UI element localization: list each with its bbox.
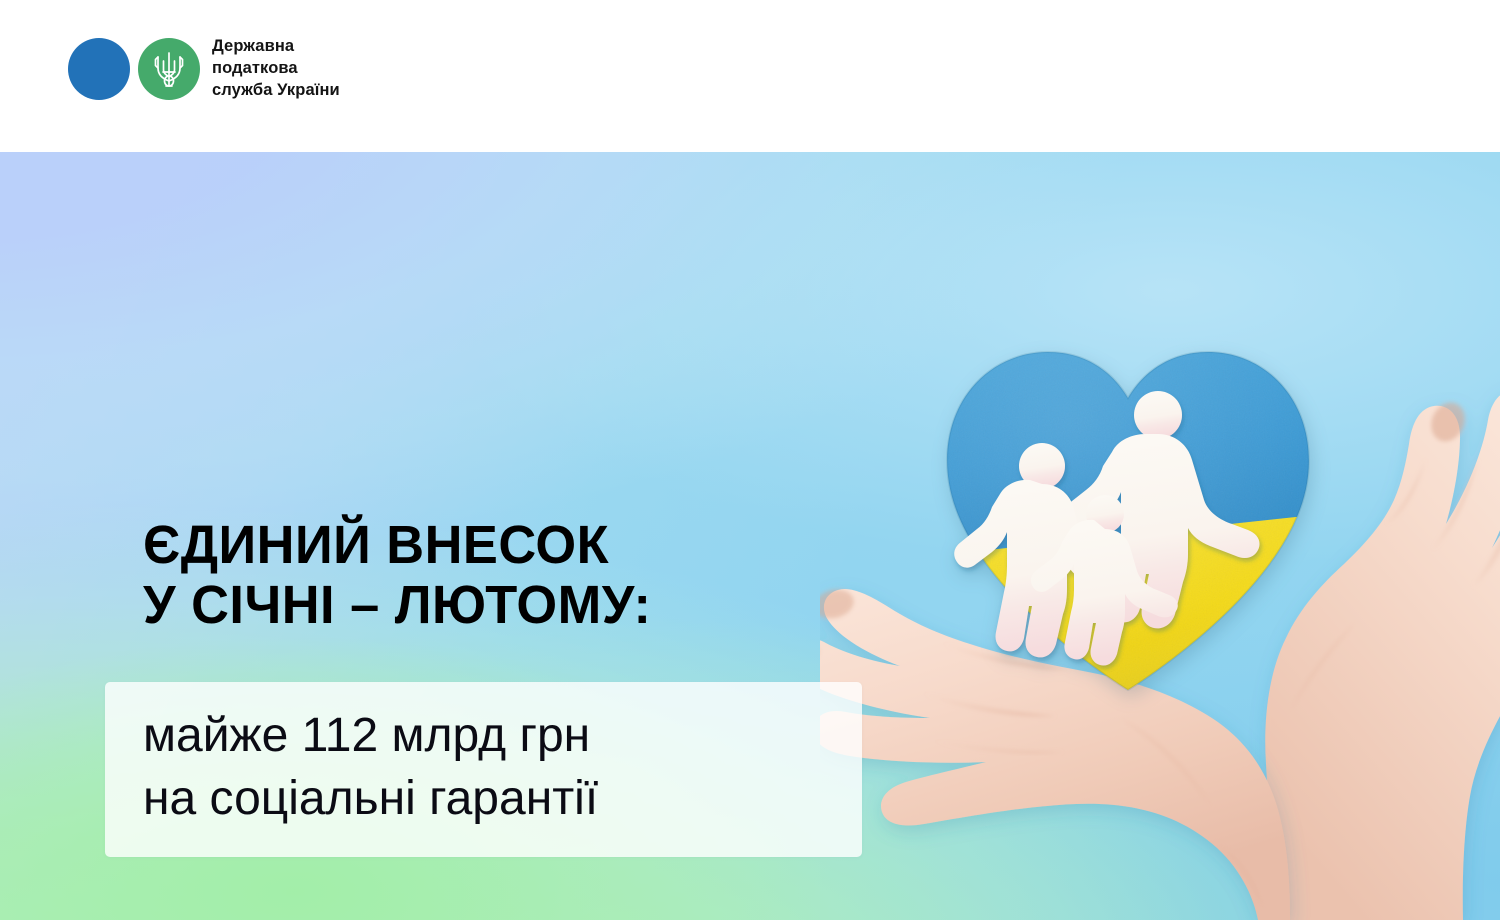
logo-text-line-2: податкова [212, 59, 298, 77]
poster-artwork-stage: ЄДИНИЙ ВНЕСОК У СІЧНІ – ЛЮТОМУ: майже 11… [0, 152, 1500, 920]
logo-text-line-1: Державна [212, 37, 294, 55]
organization-name: Державна податкова служба України [212, 36, 340, 101]
subtitle-line-2: на соціальні гарантії [143, 767, 598, 830]
header-band: Державна податкова служба України [0, 0, 1500, 152]
logo-text-line-3: служба України [212, 81, 340, 99]
blue-circle-icon [68, 38, 130, 100]
logo-marks [68, 38, 200, 100]
hands-holding-heart-photo [820, 152, 1500, 920]
organization-logo[interactable]: Державна податкова служба України [68, 36, 340, 101]
felt-heart-icon [942, 342, 1314, 692]
ukraine-trident-icon [138, 38, 200, 100]
page-title: ЄДИНИЙ ВНЕСОК У СІЧНІ – ЛЮТОМУ: [143, 515, 651, 636]
subtitle-line-1: майже 112 млрд грн [143, 704, 598, 767]
subtitle-panel: майже 112 млрд грн на соціальні гарантії [105, 682, 862, 857]
subtitle-text: майже 112 млрд грн на соціальні гарантії [143, 704, 598, 831]
headline-line-2: У СІЧНІ – ЛЮТОМУ: [143, 575, 651, 635]
promo-poster: ЄДИНИЙ ВНЕСОК У СІЧНІ – ЛЮТОМУ: майже 11… [0, 0, 1500, 920]
headline-line-1: ЄДИНИЙ ВНЕСОК [143, 515, 651, 575]
